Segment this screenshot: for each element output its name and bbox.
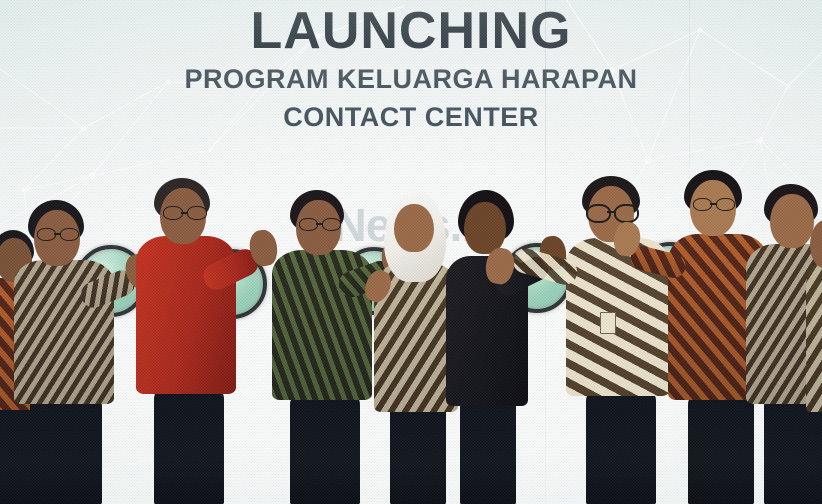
legs bbox=[290, 396, 360, 504]
person-2-batik-dark bbox=[6, 192, 118, 504]
legs bbox=[460, 398, 516, 504]
stage-title-block: LAUNCHING PROGRAM KELUARGA HARAPAN CONTA… bbox=[0, 6, 822, 137]
torso bbox=[806, 264, 822, 412]
legs bbox=[30, 398, 102, 504]
legs bbox=[808, 404, 822, 504]
title-contact-center-line: CONTACT CENTER bbox=[0, 98, 822, 136]
legs bbox=[154, 390, 224, 504]
head bbox=[810, 220, 822, 268]
head bbox=[394, 204, 434, 252]
head bbox=[464, 202, 506, 254]
person-4-green-batik bbox=[266, 184, 378, 504]
title-program-line: PROGRAM KELUARGA HARAPAN bbox=[0, 60, 822, 98]
person-3-red-shirt bbox=[128, 174, 242, 504]
glasses-icon bbox=[586, 204, 638, 220]
glasses-icon bbox=[36, 228, 80, 240]
person-6-dark-dress bbox=[440, 186, 534, 504]
glasses-icon bbox=[692, 198, 736, 210]
legs bbox=[586, 392, 656, 504]
event-photo: LAUNCHING PROGRAM KELUARGA HARAPAN CONTA… bbox=[0, 0, 822, 504]
title-launching: LAUNCHING bbox=[0, 6, 822, 57]
id-badge bbox=[600, 312, 616, 334]
legs bbox=[390, 404, 446, 504]
glasses-icon bbox=[162, 206, 208, 219]
glasses-icon bbox=[298, 218, 342, 230]
person-10-far-right bbox=[806, 204, 822, 504]
